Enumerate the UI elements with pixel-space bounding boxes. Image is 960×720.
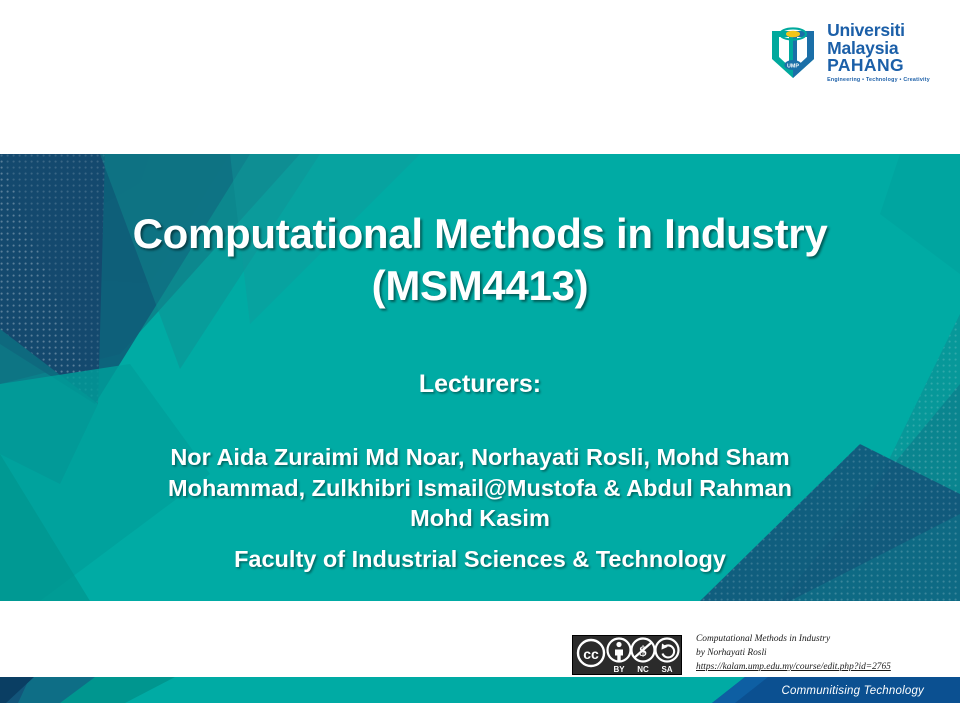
logo-line-pahang: PAHANG [827, 57, 930, 75]
svg-text:BY: BY [613, 665, 625, 674]
creative-commons-license-badge[interactable]: cc BY $ NC SA [572, 635, 682, 675]
ump-logo: UMP Universiti Malaysia PAHANG Engineeri… [768, 22, 930, 83]
slide-title-line-2: (MSM4413) [60, 260, 900, 312]
ump-shield-icon: UMP [768, 23, 818, 81]
slide-body: Computational Methods in Industry (MSM44… [0, 154, 960, 601]
lecturer-names-line-3: Mohd Kasim [40, 503, 920, 534]
lecturer-names-line-1: Nor Aida Zuraimi Md Noar, Norhayati Rosl… [40, 442, 920, 473]
slide-content: Computational Methods in Industry (MSM44… [0, 154, 960, 601]
logo-tagline: Engineering • Technology • Creativity [827, 78, 930, 83]
lecturers-names: Nor Aida Zuraimi Md Noar, Norhayati Rosl… [40, 442, 920, 534]
ump-logo-wordmark: Universiti Malaysia PAHANG Engineering •… [827, 22, 930, 83]
footer-bar-tagline: Communitising Technology [782, 685, 924, 697]
svg-text:cc: cc [583, 646, 599, 662]
credit-author: by Norhayati Rosli [696, 647, 958, 661]
svg-text:NC: NC [637, 665, 649, 674]
logo-line-universiti: Universiti [827, 22, 930, 40]
svg-text:UMP: UMP [787, 64, 799, 70]
svg-text:SA: SA [661, 665, 672, 674]
slide-header: UMP Universiti Malaysia PAHANG Engineeri… [0, 0, 960, 154]
cc-by-nc-sa-icon: cc BY $ NC SA [573, 636, 681, 674]
slide-title-line-1: Computational Methods in Industry [60, 208, 900, 260]
attribution-credit: Computational Methods in Industry by Nor… [696, 633, 958, 675]
credit-work-title: Computational Methods in Industry [696, 633, 958, 647]
footer-bar: Communitising Technology [0, 677, 960, 710]
slide-title: Computational Methods in Industry (MSM44… [60, 208, 900, 312]
lecturer-names-line-2: Mohammad, Zulkhibri Ismail@Mustofa & Abd… [40, 473, 920, 504]
faculty-name: Faculty of Industrial Sciences & Technol… [40, 546, 920, 573]
presentation-slide: UMP Universiti Malaysia PAHANG Engineeri… [0, 0, 960, 720]
credit-source-url[interactable]: https://kalam.ump.edu.my/course/edit.php… [696, 661, 958, 675]
lecturers-label: Lecturers: [60, 370, 900, 399]
